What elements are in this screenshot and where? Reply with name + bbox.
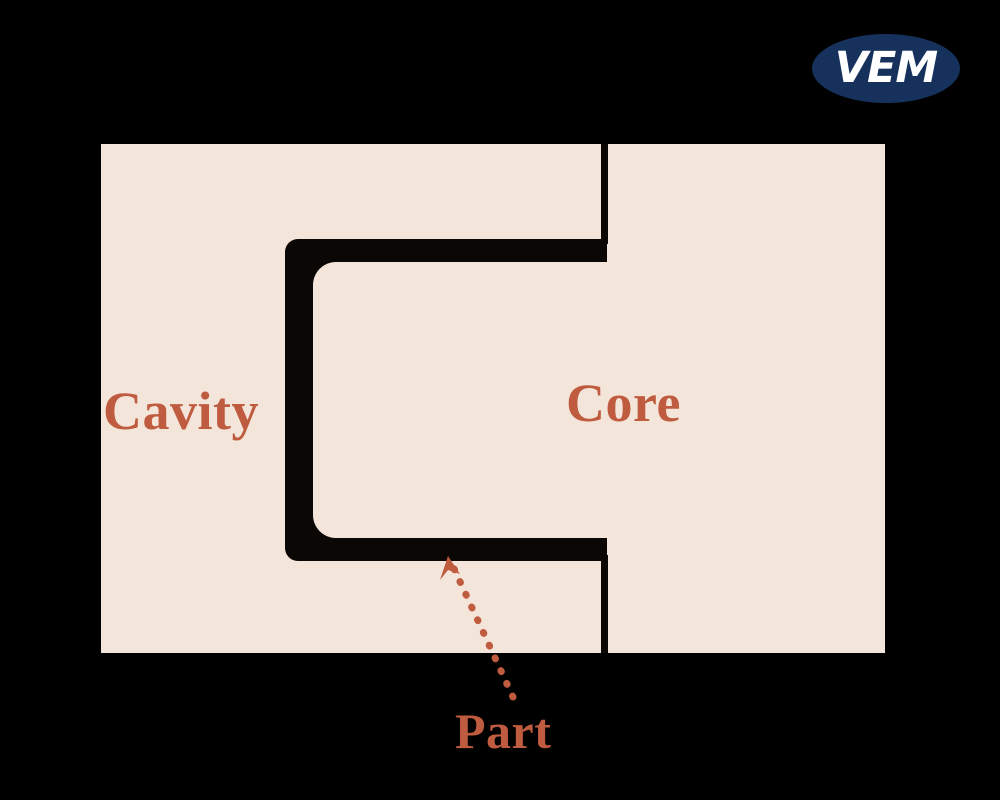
parting-line-top — [601, 144, 608, 244]
label-cavity: Cavity — [103, 380, 259, 442]
molded-part-shape — [285, 239, 607, 561]
label-part: Part — [455, 702, 551, 760]
label-core: Core — [566, 372, 681, 434]
parting-line-bottom — [601, 555, 608, 653]
logo-wordmark: VEM — [812, 34, 960, 103]
vem-logo: VEM — [812, 34, 960, 103]
diagram-canvas: Cavity Core Part VEM — [0, 0, 1000, 800]
